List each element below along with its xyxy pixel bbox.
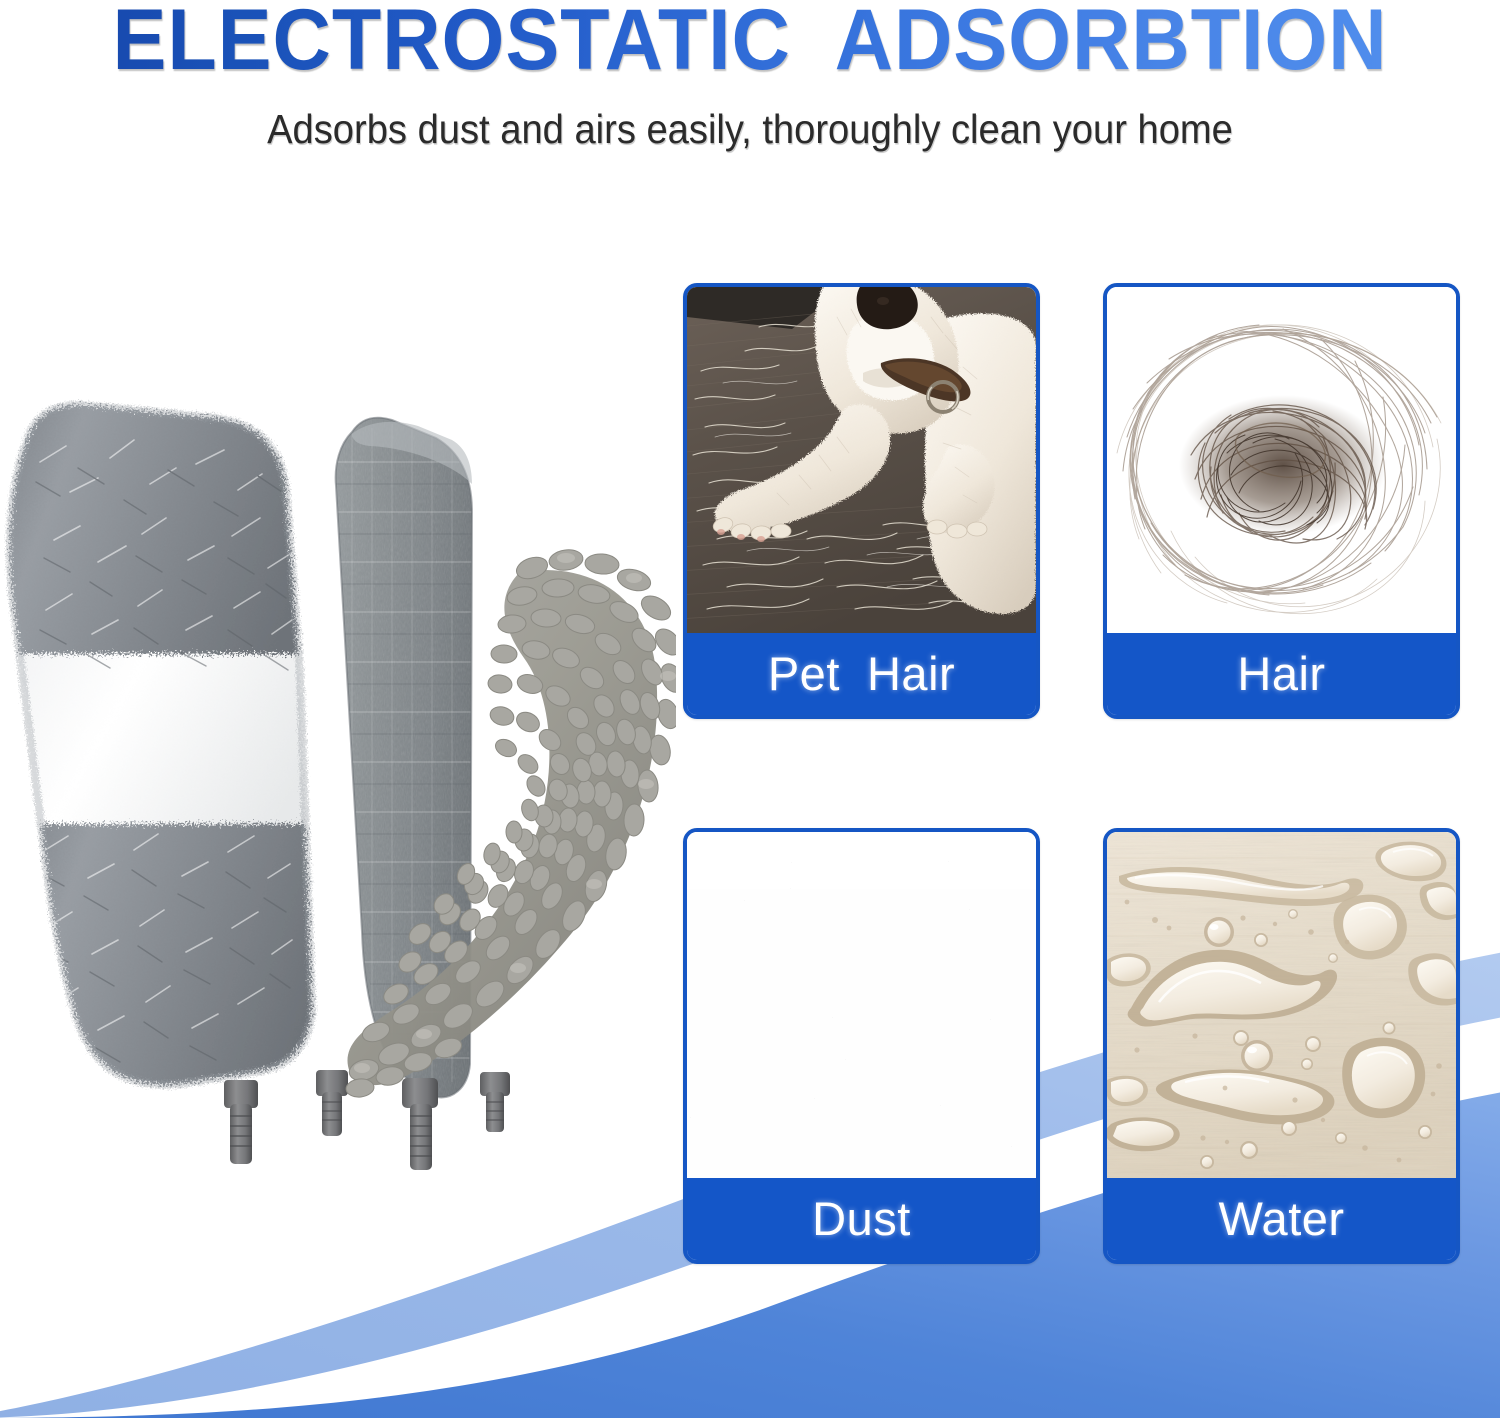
dust-speckles-photo — [687, 832, 1036, 1178]
connector-stub-3 — [480, 1072, 510, 1132]
card-hair[interactable]: Hair — [1103, 283, 1460, 719]
card-label-pet-hair: Pet Hair — [687, 633, 1036, 715]
card-dust[interactable]: Dust — [683, 828, 1040, 1264]
card-label-hair: Hair — [1107, 633, 1456, 715]
hair-clump-photo — [1107, 287, 1456, 633]
duster-head-striped — [0, 392, 340, 1164]
header: ELECTROSTATIC ADSORBTION Adsorbs dust an… — [0, 0, 1500, 152]
card-pet-hair[interactable]: Pet Hair — [683, 283, 1040, 719]
card-label-water: Water — [1107, 1178, 1456, 1260]
card-label-dust: Dust — [687, 1178, 1036, 1260]
infographic-page: ELECTROSTATIC ADSORBTION Adsorbs dust an… — [0, 0, 1500, 1418]
product-image — [0, 372, 676, 1180]
page-subtitle: Adsorbs dust and airs easily, thoroughly… — [53, 106, 1448, 152]
benefit-card-grid: Pet Hair — [683, 283, 1460, 1264]
card-water[interactable]: Water — [1103, 828, 1460, 1264]
pet-hair-photo — [687, 287, 1036, 633]
page-title: ELECTROSTATIC ADSORBTION — [45, 0, 1455, 84]
water-droplets-photo — [1107, 832, 1456, 1178]
connector-stub-1 — [224, 1080, 258, 1164]
